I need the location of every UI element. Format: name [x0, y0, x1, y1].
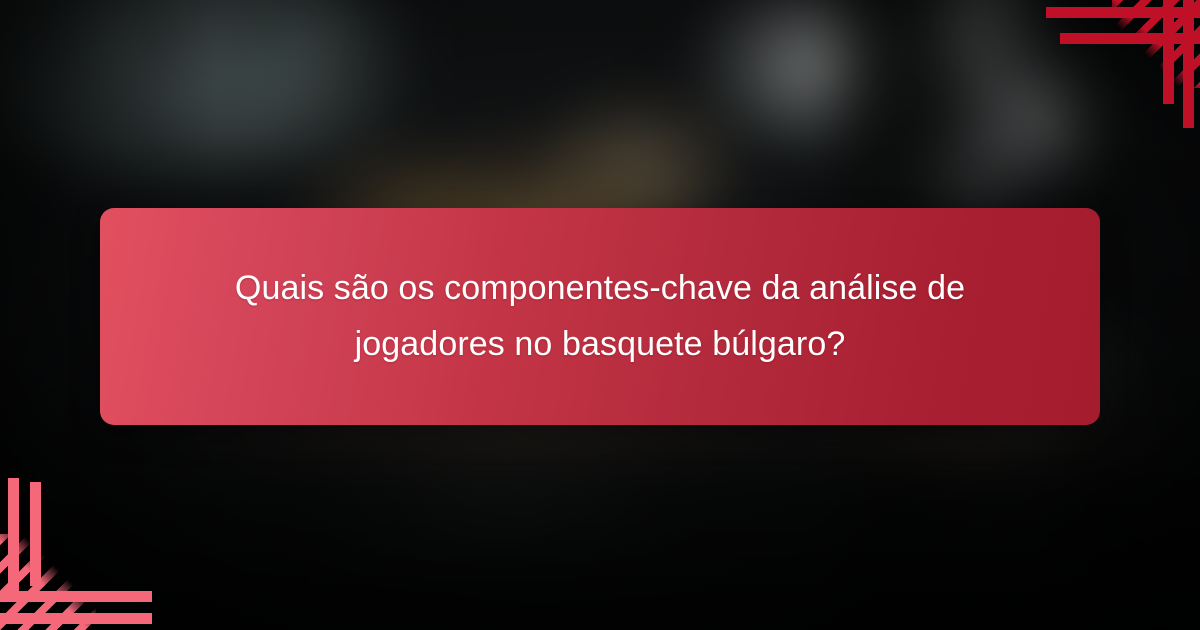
corner-frame-bottom-left	[0, 470, 180, 630]
quote-card: Quais são os componentes-chave da anális…	[0, 0, 1200, 630]
quote-banner: Quais são os componentes-chave da anális…	[100, 208, 1100, 425]
corner-frame-top-right	[1020, 0, 1200, 130]
corner-hatch-icon	[0, 534, 96, 630]
quote-text: Quais são os componentes-chave da anális…	[205, 261, 995, 371]
corner-hatch-icon	[1112, 0, 1200, 88]
